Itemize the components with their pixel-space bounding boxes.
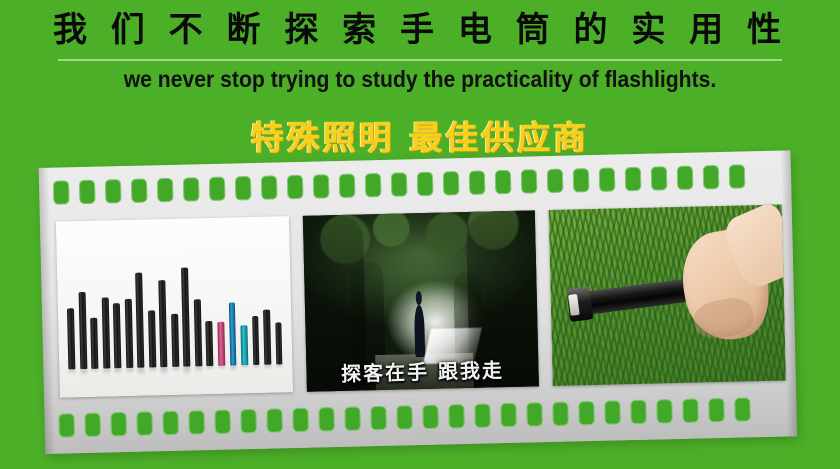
- flashlight-item: [125, 299, 133, 368]
- promo-banner: 我 们 不 断 探 索 手 电 筒 的 实 用 性 we never stop …: [0, 0, 840, 469]
- flashlight-item: [240, 326, 248, 366]
- perforation-hole: [469, 171, 486, 195]
- perforation-hole: [396, 405, 413, 429]
- perforation-hole: [313, 174, 330, 198]
- perforation-hole: [370, 406, 387, 430]
- flashlight-item: [148, 310, 156, 367]
- frame-caption-chinese: 探客在手 跟我走: [306, 354, 539, 388]
- flashlight-item: [171, 313, 179, 366]
- perforation-hole: [339, 174, 356, 198]
- flashlight-item: [136, 273, 145, 368]
- perforation-hole: [235, 176, 252, 200]
- perforation-hole: [656, 399, 673, 423]
- perforation-hole: [183, 177, 200, 201]
- perforation-hole: [734, 397, 751, 421]
- perforation-hole: [422, 405, 439, 429]
- flashlight-item: [194, 299, 202, 366]
- flashlight-lineup-group: [66, 266, 282, 370]
- perforation-hole: [292, 408, 309, 432]
- perforation-hole: [188, 410, 205, 434]
- perforation-hole: [599, 167, 616, 191]
- flashlight-item: [181, 268, 190, 367]
- perforation-hole: [547, 169, 564, 193]
- flashlight-item: [159, 280, 168, 367]
- perforation-hole: [162, 411, 179, 435]
- perforation-hole: [526, 402, 543, 426]
- perforation-hole: [651, 166, 668, 190]
- perforation-hole: [521, 169, 538, 193]
- flashlight-item: [252, 315, 260, 364]
- perforation-hole: [214, 410, 231, 434]
- perforation-hole: [79, 180, 96, 204]
- filmstrip: 探客在手 跟我走: [42, 168, 794, 454]
- perforation-hole: [682, 399, 699, 423]
- filmstrip-content: 探客在手 跟我走: [39, 150, 798, 454]
- perforation-hole: [552, 402, 569, 426]
- perforation-hole: [495, 170, 512, 194]
- perforation-hole: [58, 413, 75, 437]
- perforation-hole: [261, 175, 278, 199]
- perforation-hole: [105, 179, 122, 203]
- flashlight-item: [113, 303, 121, 368]
- frame-flashlight-lineup[interactable]: [56, 216, 293, 397]
- perforation-hole: [240, 409, 257, 433]
- flashlight-item: [217, 322, 225, 366]
- perforation-row-bottom: [58, 396, 788, 437]
- perforation-hole: [287, 175, 304, 199]
- perforation-hole: [318, 407, 335, 431]
- perforation-hole: [131, 178, 148, 202]
- flashlight-item: [275, 323, 283, 365]
- flashlight-item: [206, 320, 214, 365]
- perforation-hole: [729, 164, 746, 188]
- perforation-hole: [136, 411, 153, 435]
- perforation-hole: [344, 407, 361, 431]
- perforation-hole: [604, 400, 621, 424]
- perforation-hole: [391, 172, 408, 196]
- perforation-hole: [53, 180, 70, 204]
- perforation-hole: [443, 171, 460, 195]
- flashlight-item: [78, 292, 87, 369]
- flashlight-item: [67, 308, 75, 369]
- frame-hand-torch-grass[interactable]: [549, 205, 786, 386]
- perforation-hole: [630, 400, 647, 424]
- perforation-hole: [677, 166, 694, 190]
- perforation-hole: [500, 403, 517, 427]
- person-silhouette: [414, 305, 425, 358]
- page-title-chinese: 我 们 不 断 探 索 手 电 筒 的 实 用 性: [0, 8, 840, 52]
- perforation-hole: [266, 408, 283, 432]
- flashlight-item: [228, 302, 236, 365]
- perforation-hole: [578, 401, 595, 425]
- perforation-hole: [157, 178, 174, 202]
- perforation-hole: [703, 165, 720, 189]
- perforation-hole: [84, 413, 101, 437]
- title-divider: [58, 59, 782, 61]
- perforation-hole: [110, 412, 127, 436]
- perforation-hole: [474, 403, 491, 427]
- perforation-hole: [209, 177, 226, 201]
- flashlight-item: [102, 297, 110, 368]
- perforation-hole: [448, 404, 465, 428]
- perforation-hole: [365, 173, 382, 197]
- perforation-hole: [573, 168, 590, 192]
- flashlight-item: [90, 317, 98, 368]
- filmstrip-frames: 探客在手 跟我走: [56, 205, 786, 398]
- perforation-hole: [708, 398, 725, 422]
- perforation-hole: [417, 172, 434, 196]
- flashlight-item: [263, 309, 271, 364]
- perforation-hole: [625, 167, 642, 191]
- frame-night-forest[interactable]: 探客在手 跟我走: [303, 210, 540, 391]
- page-subtitle-english: we never stop trying to study the practi…: [34, 64, 807, 94]
- perforation-row-top: [53, 164, 783, 205]
